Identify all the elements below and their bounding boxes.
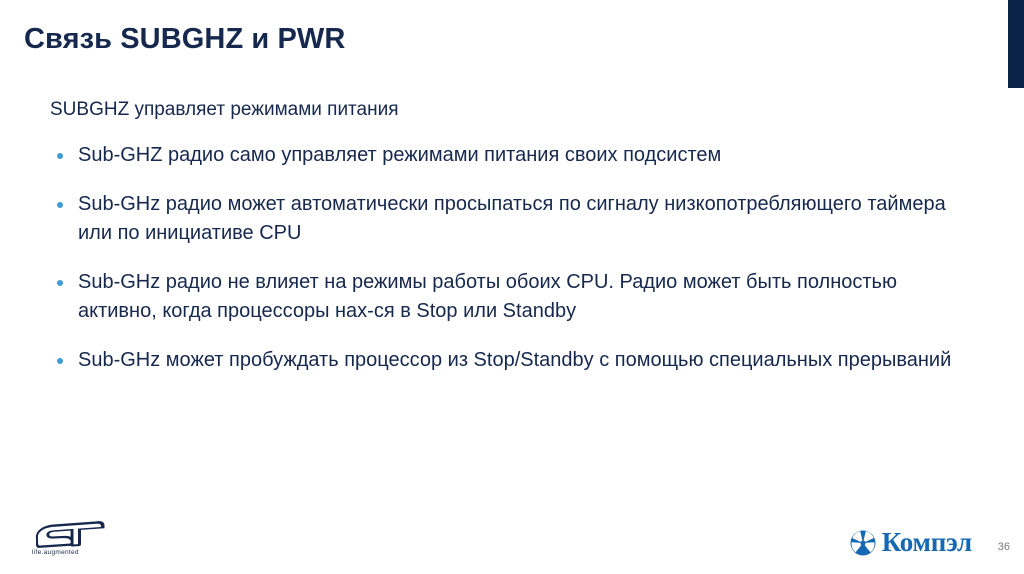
bullet-text: Sub-GHz может пробуждать процессор из St… xyxy=(78,346,958,375)
list-item: Sub-GHz может пробуждать процессор из St… xyxy=(50,346,980,375)
bullet-dot-icon xyxy=(57,202,63,208)
bullet-text: Sub-GHZ радио само управляет режимами пи… xyxy=(78,141,958,170)
compel-logo: Компэл xyxy=(850,529,972,556)
st-logo: life.augmented xyxy=(32,518,120,562)
compel-emblem-icon xyxy=(850,530,876,556)
bullet-dot-icon xyxy=(57,153,63,159)
accent-bar-top-right xyxy=(1008,0,1024,88)
st-micro-logo-icon xyxy=(32,518,106,548)
slide-body: SUBGHZ управляет режимами питания Sub-GH… xyxy=(50,97,980,375)
list-item: Sub-GHz радио может автоматически просып… xyxy=(50,190,980,248)
slide-number: 36 xyxy=(998,541,1010,553)
lead-paragraph: SUBGHZ управляет режимами питания xyxy=(50,97,980,123)
list-item: Sub-GHz радио не влияет на режимы работы… xyxy=(50,268,980,326)
st-logo-tagline: life.augmented xyxy=(32,549,120,556)
bullet-list: Sub-GHZ радио само управляет режимами пи… xyxy=(50,141,980,375)
bullet-text: Sub-GHz радио не влияет на режимы работы… xyxy=(78,268,958,326)
slide: Связь SUBGHZ и PWR SUBGHZ управляет режи… xyxy=(0,0,1024,574)
compel-logo-text: Компэл xyxy=(882,529,972,556)
list-item: Sub-GHZ радио само управляет режимами пи… xyxy=(50,141,980,170)
bullet-dot-icon xyxy=(57,358,63,364)
bullet-dot-icon xyxy=(57,280,63,286)
slide-title: Связь SUBGHZ и PWR xyxy=(24,23,345,56)
bullet-text: Sub-GHz радио может автоматически просып… xyxy=(78,190,958,248)
